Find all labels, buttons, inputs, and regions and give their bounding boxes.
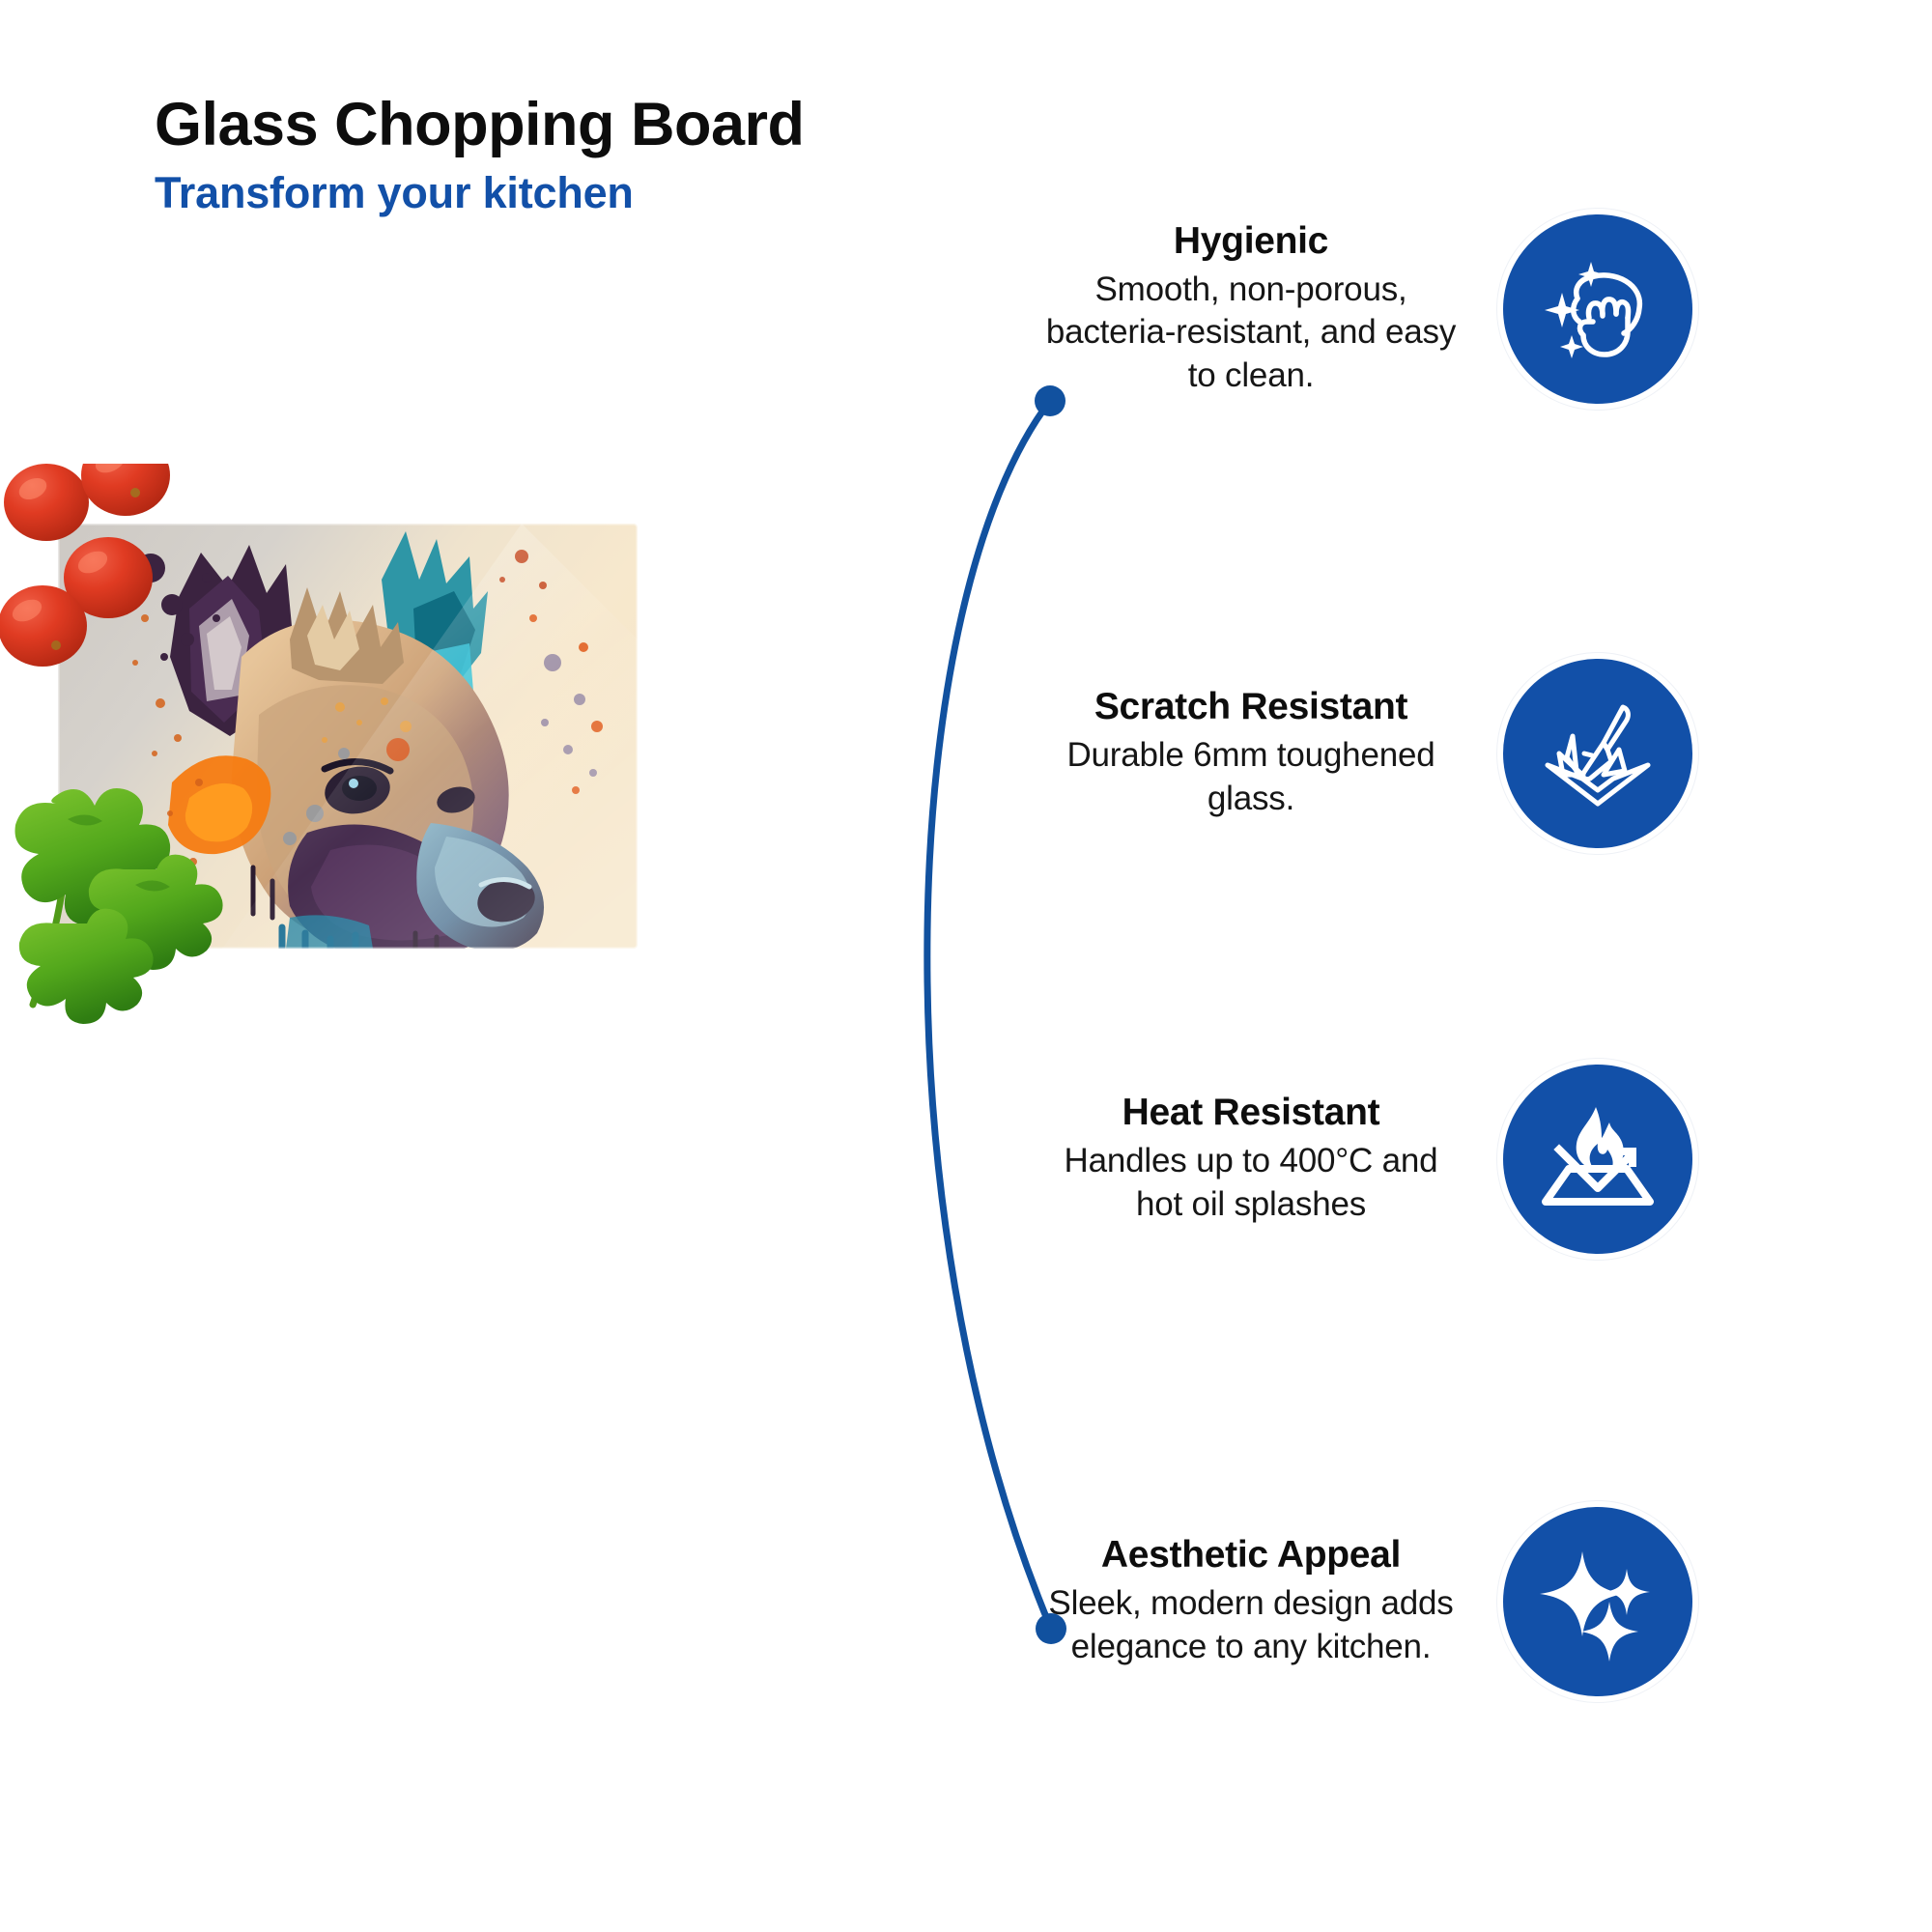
feature-scratch-resistant: Scratch Resistant Durable 6mm toughened … — [1043, 659, 1692, 848]
feature-description: Smooth, non-porous, bacteria-resistant, … — [1043, 269, 1459, 398]
hand-wipe-sparkle-icon — [1503, 214, 1692, 404]
feature-title: Hygienic — [1043, 220, 1459, 263]
feature-text: Aesthetic Appeal Sleek, modern design ad… — [1043, 1534, 1459, 1668]
feature-text: Scratch Resistant Durable 6mm toughened … — [1043, 686, 1459, 820]
feature-description: Sleek, modern design adds elegance to an… — [1043, 1582, 1459, 1669]
knife-surface-icon — [1503, 659, 1692, 848]
feature-title: Heat Resistant — [1043, 1092, 1459, 1134]
feature-text: Heat Resistant Handles up to 400°C and h… — [1043, 1092, 1459, 1226]
product-image — [0, 464, 676, 1043]
feature-title: Scratch Resistant — [1043, 686, 1459, 728]
feature-heat-resistant: Heat Resistant Handles up to 400°C and h… — [1043, 1065, 1692, 1254]
feature-description: Durable 6mm toughened glass. — [1043, 734, 1459, 821]
connector-path — [927, 401, 1051, 1629]
header-block: Glass Chopping Board Transform your kitc… — [155, 93, 805, 215]
sparkles-icon — [1503, 1507, 1692, 1696]
flame-deflect-icon — [1503, 1065, 1692, 1254]
feature-hygienic: Hygienic Smooth, non-porous, bacteria-re… — [1043, 214, 1692, 404]
feature-description: Handles up to 400°C and hot oil splashes — [1043, 1140, 1459, 1227]
page-title: Glass Chopping Board — [155, 93, 805, 156]
feature-title: Aesthetic Appeal — [1043, 1534, 1459, 1577]
feature-aesthetic-appeal: Aesthetic Appeal Sleek, modern design ad… — [1043, 1507, 1692, 1696]
feature-text: Hygienic Smooth, non-porous, bacteria-re… — [1043, 220, 1459, 398]
page-subtitle: Transform your kitchen — [155, 170, 805, 215]
infographic-canvas: Glass Chopping Board Transform your kitc… — [0, 0, 1932, 1932]
